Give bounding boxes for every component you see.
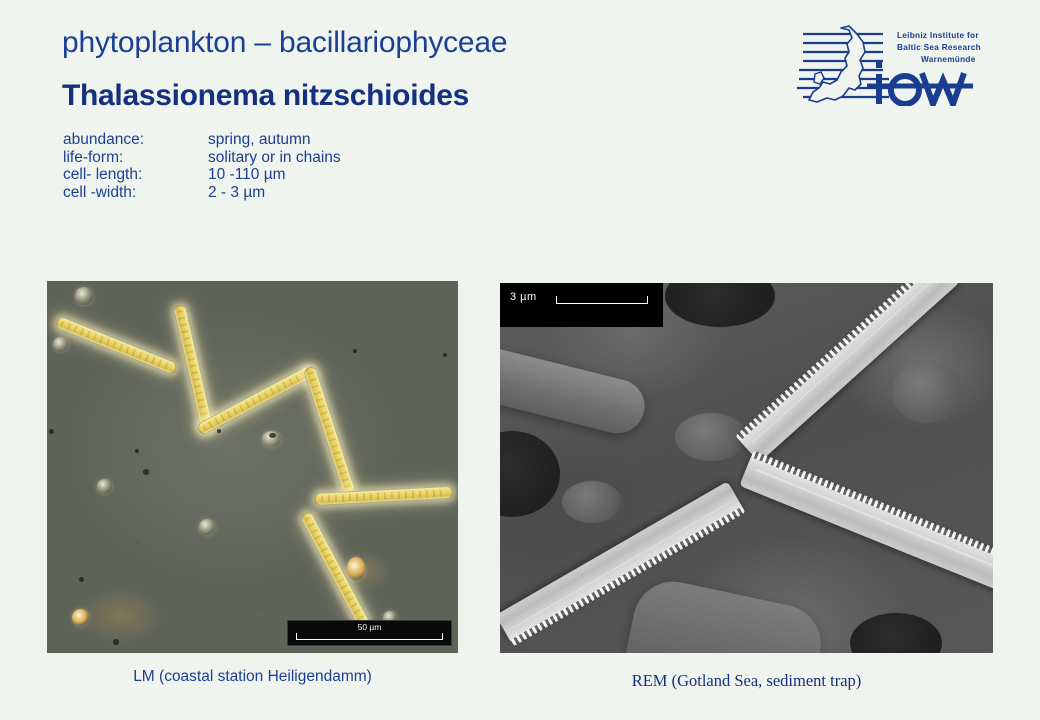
caption-electron-microscopy: REM (Gotland Sea, sediment trap): [500, 671, 993, 691]
logo-line-2: Baltic Sea Research: [897, 43, 981, 52]
figure-light-microscopy: 50 µm: [47, 281, 458, 653]
attribute-label: abundance:: [63, 131, 208, 149]
debris-speck: [49, 429, 54, 434]
debris-speck: [353, 349, 357, 353]
attribute-row-abundance: abundance: spring, autumn: [63, 131, 341, 149]
debris-speck: [113, 639, 119, 645]
attribute-row-life-form: life-form: solitary or in chains: [63, 149, 341, 167]
debris-speck: [135, 449, 139, 453]
attribute-row-cell-length: cell- length: 10 -110 µm: [63, 166, 341, 184]
scale-bar-label: 3 µm: [510, 291, 537, 303]
group-title: phytoplankton – bacillariophyceae: [62, 26, 507, 60]
debris-speck: [217, 429, 221, 433]
scale-bar-sem: 3 µm: [500, 283, 663, 327]
debris-bead: [75, 287, 93, 305]
debris-speck: [79, 577, 84, 582]
sem-texture: [500, 283, 993, 653]
debris-speck: [443, 353, 447, 357]
scale-bar-line: [556, 296, 648, 304]
logo-line-3: Warnemünde: [921, 55, 976, 64]
sem-micrograph-image: 3 µm: [500, 283, 993, 653]
debris-bead: [72, 609, 89, 626]
attribute-label: cell- length:: [63, 166, 208, 184]
attribute-list: abundance: spring, autumn life-form: sol…: [63, 131, 341, 201]
scale-bar-line: [296, 633, 443, 640]
scale-bar-label: 50 µm: [288, 622, 451, 632]
debris-bead: [199, 519, 215, 535]
iow-logo-icon: Leibniz Institute for Baltic Sea Researc…: [797, 24, 987, 106]
slide-canvas: phytoplankton – bacillariophyceae Thalas…: [0, 0, 1040, 720]
attribute-label: cell -width:: [63, 184, 208, 202]
debris-speck: [143, 469, 149, 475]
iow-logo: Leibniz Institute for Baltic Sea Researc…: [797, 24, 987, 106]
attribute-value: 10 -110 µm: [208, 166, 286, 184]
attribute-value: spring, autumn: [208, 131, 311, 149]
attribute-value: 2 - 3 µm: [208, 184, 265, 202]
scale-bar-lm: 50 µm: [287, 620, 452, 646]
species-title: Thalassionema nitzschioides: [62, 79, 469, 113]
figure-electron-microscopy: 3 µm: [500, 283, 993, 653]
logo-line-1: Leibniz Institute for: [897, 31, 979, 40]
debris-bead: [347, 557, 365, 581]
attribute-value: solitary or in chains: [208, 149, 341, 167]
debris-speck: [269, 433, 276, 438]
caption-light-microscopy: LM (coastal station Heiligendamm): [47, 668, 458, 686]
light-micrograph-image: 50 µm: [47, 281, 458, 653]
attribute-label: life-form:: [63, 149, 208, 167]
debris-bead: [97, 479, 112, 494]
attribute-row-cell-width: cell -width: 2 - 3 µm: [63, 184, 341, 202]
debris-bead: [53, 337, 68, 352]
